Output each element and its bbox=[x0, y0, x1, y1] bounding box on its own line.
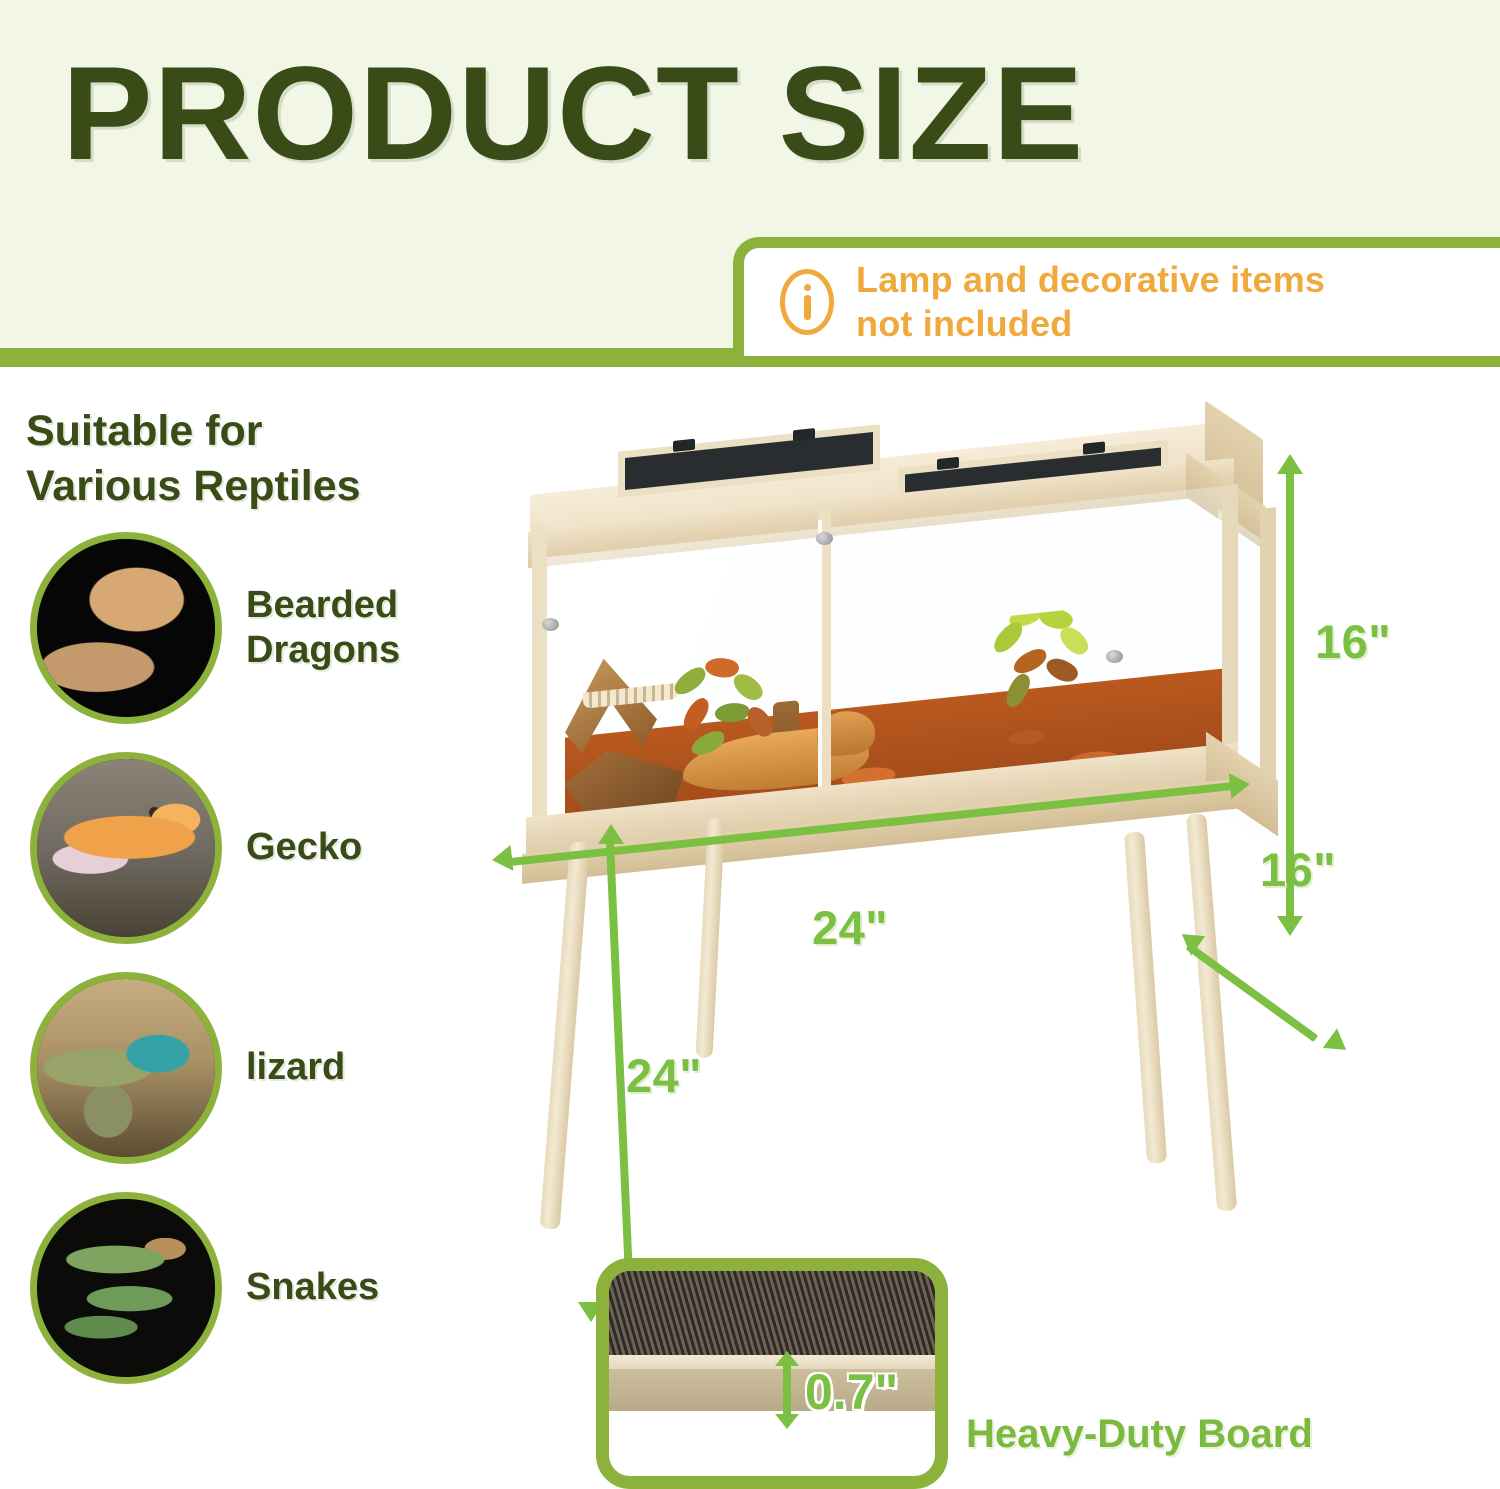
decor-plant-left bbox=[665, 651, 795, 795]
notice-text: Lamp and decorative items not included bbox=[856, 258, 1325, 346]
door-knob-right[interactable] bbox=[1106, 650, 1123, 663]
arrow-head-depth-far bbox=[1323, 1028, 1353, 1059]
arrow-head-down bbox=[1277, 916, 1303, 936]
leopard-gecko-photo bbox=[37, 759, 215, 937]
snake-thumbnail bbox=[30, 1192, 222, 1384]
stand-leg-front-left bbox=[540, 841, 590, 1229]
lizard-thumbnail bbox=[30, 972, 222, 1164]
arrow-head-right bbox=[1229, 771, 1252, 799]
list-item: Gecko bbox=[30, 744, 460, 951]
decor-plant-right bbox=[983, 597, 1113, 761]
list-item-label: lizard bbox=[246, 1045, 345, 1090]
bearded-dragon-photo bbox=[37, 539, 215, 717]
list-item: Bearded Dragons bbox=[30, 524, 460, 731]
stand-leg-front-right bbox=[1124, 831, 1167, 1164]
dimension-label-width: 24" bbox=[812, 900, 888, 955]
page-title: PRODUCT SIZE bbox=[62, 48, 1084, 181]
arrow-head-left bbox=[491, 845, 514, 873]
door-knob-left[interactable] bbox=[542, 618, 559, 631]
green-lizard-photo bbox=[37, 979, 215, 1157]
list-item-label: Bearded Dragons bbox=[246, 583, 400, 673]
heavy-duty-board-caption: Heavy-Duty Board bbox=[966, 1412, 1313, 1457]
gecko-thumbnail bbox=[30, 752, 222, 944]
dimension-label-board-thickness: 0.7" bbox=[805, 1363, 898, 1421]
info-icon bbox=[780, 269, 834, 335]
frame-post-left bbox=[532, 525, 547, 827]
suitable-for-heading: Suitable for Various Reptiles bbox=[26, 404, 466, 514]
dimension-label-depth: 16" bbox=[1260, 842, 1336, 897]
green-snake-photo bbox=[37, 1199, 215, 1377]
dimension-label-stand-height: 24" bbox=[626, 1048, 702, 1103]
header-divider-rule bbox=[0, 348, 770, 367]
hinge-icon bbox=[1083, 441, 1105, 454]
list-item: Snakes bbox=[30, 1184, 460, 1391]
hinge-icon bbox=[673, 439, 695, 452]
bearded-dragon-thumbnail bbox=[30, 532, 222, 724]
board-mesh-surface bbox=[607, 1269, 948, 1355]
list-item: lizard bbox=[30, 964, 460, 1171]
info-icon-dot bbox=[804, 284, 811, 291]
dimension-label-height: 16" bbox=[1315, 614, 1391, 669]
arrow-head-board-down bbox=[775, 1414, 799, 1429]
stand-leg-back-right bbox=[1186, 813, 1237, 1211]
list-item-label: Snakes bbox=[246, 1265, 379, 1310]
arrow-head-stand-up bbox=[598, 824, 624, 844]
arrow-head-up bbox=[1277, 454, 1303, 474]
frame-post-right bbox=[1222, 484, 1238, 786]
door-latch-center[interactable] bbox=[816, 532, 833, 545]
list-item-label: Gecko bbox=[246, 825, 362, 870]
hinge-icon bbox=[793, 428, 815, 441]
info-icon-stem bbox=[804, 295, 811, 320]
dimension-line-board-thickness bbox=[783, 1363, 791, 1419]
heavy-duty-board-callout: 0.7" bbox=[596, 1258, 948, 1489]
frame-post-back bbox=[1260, 507, 1276, 809]
hinge-icon bbox=[937, 457, 959, 470]
notice-badge: Lamp and decorative items not included bbox=[733, 237, 1500, 367]
door-seam bbox=[818, 520, 822, 810]
